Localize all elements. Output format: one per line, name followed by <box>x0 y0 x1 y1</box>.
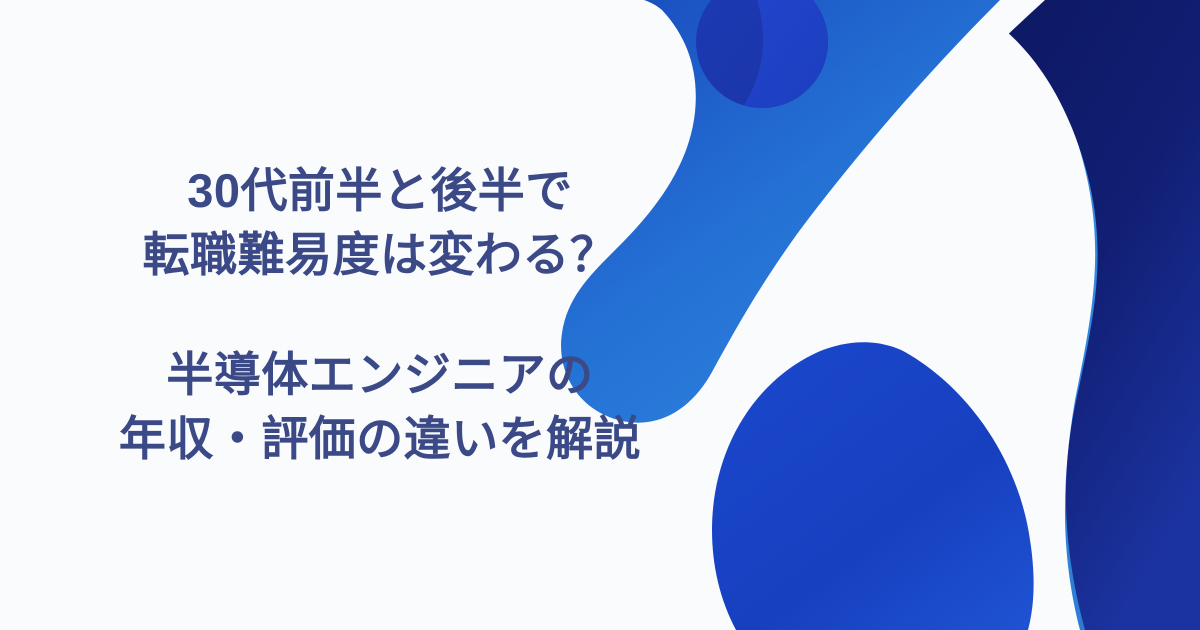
headline-line-3: 半導体エンジニアの <box>166 343 593 407</box>
light-blue-panel-shape <box>1065 60 1200 630</box>
headline-group-secondary: 半導体エンジニアの 年収・評価の違いを解説 <box>119 343 641 471</box>
headline-line-2: 転職難易度は変わる？ <box>143 223 618 287</box>
headline-line-4: 年収・評価の違いを解説 <box>119 407 641 471</box>
navy-diagonal-wedge-shape <box>960 0 1200 630</box>
headline-group-primary: 30代前半と後半で 転職難易度は変わる？ <box>143 159 618 287</box>
headline-text-block: 30代前半と後半で 転職難易度は変わる？ 半導体エンジニアの 年収・評価の違いを… <box>0 0 760 630</box>
royal-blue-blob-shape <box>712 342 1034 630</box>
headline-line-1: 30代前半と後半で <box>187 159 573 223</box>
og-image-card: 30代前半と後半で 転職難易度は変わる？ 半導体エンジニアの 年収・評価の違いを… <box>0 0 1200 630</box>
